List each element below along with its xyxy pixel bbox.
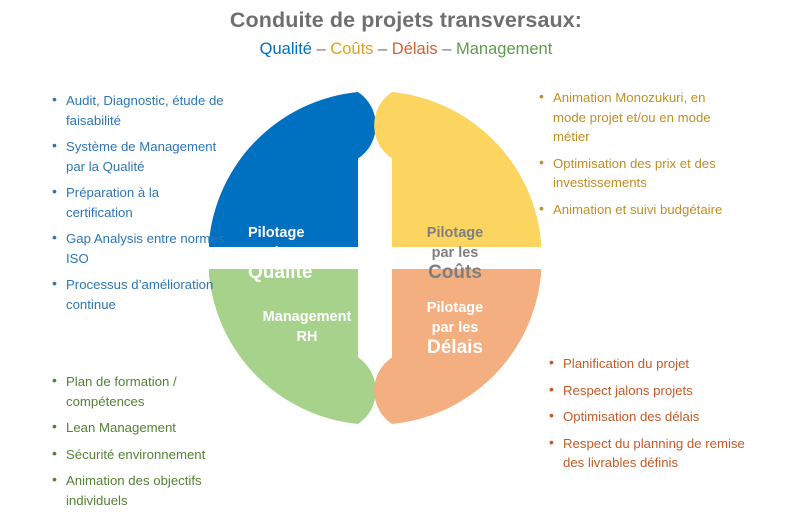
list-item: Préparation à la certification [52, 183, 227, 222]
subtitle-word-couts: Coûts [330, 40, 373, 58]
list-item: Optimisation des délais [549, 407, 749, 427]
quadrant-label-qualite-line3: Qualité [248, 263, 368, 283]
page-title: Conduite de projets transversaux: [0, 6, 812, 34]
list-item: Respect jalons projets [549, 381, 749, 401]
quadrant-label-couts: Pilotage par les Coûts [395, 223, 515, 283]
quadrant-label-delais-line2: par les [395, 318, 515, 338]
list-item: Animation Monozukuri, en mode projet et/… [539, 88, 739, 147]
bullet-list-couts: Animation Monozukuri, en mode projet et/… [539, 88, 739, 226]
slide-canvas: Conduite de projets transversaux: Qualit… [0, 0, 812, 511]
bullet-list-management: Plan de formation / compétences Lean Man… [52, 372, 247, 517]
list-item: Planification du projet [549, 354, 749, 374]
quadrant-label-delais-line3: Délais [395, 338, 515, 358]
list-item: Optimisation des prix et des investissem… [539, 154, 739, 193]
list-item: Respect du planning de remise des livrab… [549, 434, 749, 473]
subtitle-separator-1: – [312, 40, 330, 58]
list-item: Lean Management [52, 418, 247, 438]
bullet-list-delais: Planification du projet Respect jalons p… [549, 354, 749, 480]
subtitle: Qualité – Coûts – Délais – Management [0, 36, 812, 62]
quadrant-wheel-diagram: Pilotage par la Qualité Pilotage par les… [209, 92, 541, 424]
quadrant-label-couts-line1: Pilotage [395, 223, 515, 243]
quadrant-label-management-line1: Management [237, 307, 377, 327]
subtitle-separator-3: – [438, 40, 456, 58]
list-item: Audit, Diagnostic, étude de faisabilité [52, 91, 227, 130]
subtitle-separator-2: – [373, 40, 391, 58]
quadrant-label-qualite-line2: par la [248, 243, 368, 263]
quadrant-label-qualite-line1: Pilotage [248, 223, 368, 243]
list-item: Animation et suivi budgétaire [539, 200, 739, 220]
list-item: Gap Analysis entre normes ISO [52, 229, 227, 268]
subtitle-word-qualite: Qualité [260, 40, 312, 58]
bullet-list-qualite: Audit, Diagnostic, étude de faisabilité … [52, 91, 227, 321]
subtitle-word-management: Management [456, 40, 552, 58]
list-item: Animation des objectifs individuels [52, 471, 247, 510]
subtitle-word-delais: Délais [392, 40, 438, 58]
quadrant-label-couts-line3: Coûts [395, 263, 515, 283]
quadrant-label-management: Management RH [237, 307, 377, 347]
quadrant-label-delais-line1: Pilotage [395, 298, 515, 318]
quadrant-label-couts-line2: par les [395, 243, 515, 263]
list-item: Plan de formation / compétences [52, 372, 247, 411]
quadrant-label-qualite: Pilotage par la Qualité [248, 223, 368, 283]
quadrant-label-management-line2: RH [237, 327, 377, 347]
title-block: Conduite de projets transversaux: Qualit… [0, 6, 812, 62]
list-item: Système de Management par la Qualité [52, 137, 227, 176]
list-item: Processus d’amélioration continue [52, 275, 227, 314]
quadrant-label-delais: Pilotage par les Délais [395, 298, 515, 358]
list-item: Sécurité environnement [52, 445, 247, 465]
